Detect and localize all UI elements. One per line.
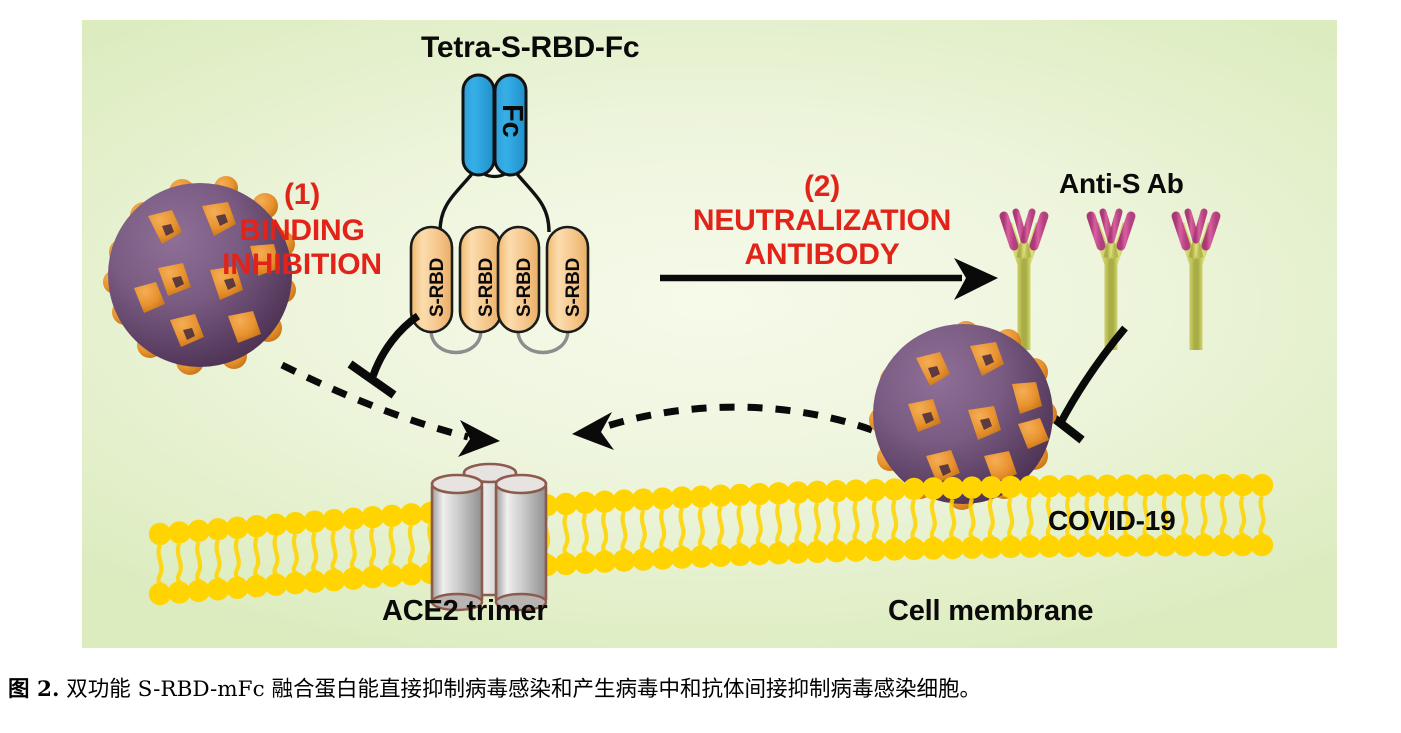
step-1-number: (1) — [207, 180, 397, 211]
rbd-linker-right — [518, 330, 568, 353]
lipid-head-inner — [690, 545, 712, 567]
lipid-head-outer — [303, 510, 325, 532]
lipid-head-inner — [767, 542, 789, 564]
lipid-head-inner — [303, 570, 325, 592]
figure-number: 图 2. — [8, 677, 59, 702]
lipid-tail — [661, 510, 664, 550]
lipid-tail — [990, 498, 993, 538]
s-rbd-label-1: S-RBD — [427, 258, 449, 317]
lipid-head-outer — [1096, 475, 1118, 497]
lipid-head-outer — [342, 507, 364, 529]
lipid-head-inner — [1096, 535, 1118, 557]
lipid-head-inner — [555, 553, 577, 575]
lipid-head-inner — [903, 538, 925, 560]
lipid-head-outer — [593, 491, 615, 513]
lipid-head-inner — [961, 536, 983, 558]
lipid-head-outer — [980, 476, 1002, 498]
lipid-head-outer — [1057, 475, 1079, 497]
lipid-head-outer — [1019, 475, 1041, 497]
cell-membrane-label: Cell membrane — [888, 595, 1093, 628]
lipid-head-inner — [671, 546, 693, 568]
lipid-head-outer — [381, 505, 403, 527]
lipid-head-outer — [709, 485, 731, 507]
lipid-head-outer — [883, 478, 905, 500]
ace2-trimer-label: ACE2 trimer — [382, 595, 547, 628]
lipid-tail — [874, 501, 877, 541]
lipid-tail — [893, 501, 896, 541]
lipid-head-inner — [1154, 534, 1176, 556]
lipid-tail — [1029, 498, 1032, 538]
lipid-tail — [932, 500, 935, 540]
lipid-head-inner — [980, 536, 1002, 558]
lipid-tail — [835, 502, 838, 542]
lipid-head-inner — [651, 547, 673, 569]
lipid-head-outer — [1038, 475, 1060, 497]
lipid-head-inner — [941, 537, 963, 559]
lipid-head-inner — [1115, 534, 1137, 556]
infection-path-right — [572, 407, 872, 450]
antibody-3 — [1176, 212, 1216, 350]
lipid-head-inner — [245, 575, 267, 597]
rbd-linker-left — [431, 330, 481, 353]
lipid-head-outer — [941, 477, 963, 499]
lipid-head-inner — [323, 569, 345, 591]
lipid-head-inner — [400, 563, 422, 585]
s-rbd-label-3: S-RBD — [514, 258, 536, 317]
lipid-tail — [352, 530, 355, 570]
lipid-head-inner — [1212, 534, 1234, 556]
lipid-head-outer — [284, 512, 306, 534]
lipid-head-outer — [149, 523, 171, 545]
figure-title: Tetra-S-RBD-Fc — [421, 31, 639, 65]
lipid-head-inner — [845, 539, 867, 561]
lipid-tail — [371, 528, 374, 568]
lipid-head-inner — [632, 548, 654, 570]
lipid-head-outer — [845, 479, 867, 501]
lipid-head-outer — [767, 482, 789, 504]
lipid-head-outer — [1251, 474, 1273, 496]
covid-19-label: COVID-19 — [1048, 505, 1176, 537]
lipid-head-outer — [361, 506, 383, 528]
lipid-head-inner — [748, 543, 770, 565]
lipid-tail — [410, 526, 413, 566]
ace2-cylinder-left — [432, 475, 482, 610]
lipid-head-inner — [265, 573, 287, 595]
lipid-head-outer — [671, 486, 693, 508]
ace2-cylinder-right — [496, 475, 546, 610]
lipid-head-inner — [149, 583, 171, 605]
lipid-head-inner — [787, 541, 809, 563]
fc-hinge-right — [512, 168, 549, 232]
lipid-tail — [603, 513, 606, 553]
lipid-head-inner — [1193, 534, 1215, 556]
figure-caption: 图 2. 双功能 S-RBD-mFc 融合蛋白能直接抑制病毒感染和产生病毒中和抗… — [8, 672, 1398, 703]
step-1-line-2: INHIBITION — [192, 250, 412, 281]
lipid-tail — [1009, 498, 1012, 538]
lipid-tail — [1183, 496, 1186, 536]
diagram-panel: Tetra-S-RBD-Fc Fc S-RBD S-RBD S-RBD S-RB… — [82, 20, 1337, 648]
step-2-line-1: NEUTRALIZATION — [652, 206, 992, 237]
lipid-tail — [739, 506, 742, 546]
lipid-head-inner — [729, 544, 751, 566]
lipid-head-inner — [613, 549, 635, 571]
lipid-head-outer — [245, 515, 267, 537]
lipid-head-outer — [922, 477, 944, 499]
lipid-tail — [758, 505, 761, 545]
lipid-head-inner — [806, 541, 828, 563]
lipid-tail — [642, 511, 645, 551]
lipid-tail — [855, 502, 858, 542]
lipid-head-outer — [187, 520, 209, 542]
lipid-head-outer — [1135, 474, 1157, 496]
lipid-tail — [391, 527, 394, 567]
lipid-tail — [333, 531, 336, 571]
lipid-head-outer — [1173, 474, 1195, 496]
lipid-head-inner — [187, 580, 209, 602]
step-2-line-2: ANTIBODY — [682, 240, 962, 271]
binding-inhibition-arrow — [350, 316, 418, 395]
lipid-tail — [700, 508, 703, 548]
diagram-canvas — [82, 20, 1337, 648]
lipid-tail — [1241, 496, 1244, 536]
lipid-tail — [719, 507, 722, 547]
lipid-tail — [681, 509, 684, 549]
lipid-tail — [313, 533, 316, 573]
lipid-head-inner — [342, 567, 364, 589]
lipid-tail — [1222, 496, 1225, 536]
step-2-number: (2) — [702, 172, 942, 203]
lipid-head-outer — [613, 489, 635, 511]
lipid-head-inner — [999, 536, 1021, 558]
lipid-head-outer — [265, 513, 287, 535]
lipid-head-inner — [226, 577, 248, 599]
lipid-tail — [255, 537, 258, 577]
lipid-tail — [777, 505, 780, 545]
lipid-head-outer — [748, 483, 770, 505]
infection-path-left — [282, 365, 500, 457]
lipid-head-inner — [825, 540, 847, 562]
s-rbd-label-2: S-RBD — [476, 258, 498, 317]
anti-s-ab-label: Anti-S Ab — [1059, 168, 1184, 200]
lipid-tail — [197, 542, 200, 582]
lipid-head-inner — [284, 572, 306, 594]
lipid-tail — [236, 539, 239, 579]
lipid-head-inner — [1251, 534, 1273, 556]
cell-membrane-bilayer — [149, 474, 1273, 605]
lipid-head-outer — [207, 518, 229, 540]
lipid-tail — [816, 503, 819, 543]
lipid-head-outer — [574, 492, 596, 514]
lipid-head-outer — [787, 481, 809, 503]
lipid-head-outer — [168, 521, 190, 543]
lipid-head-outer — [1212, 474, 1234, 496]
lipid-head-inner — [361, 566, 383, 588]
lipid-head-inner — [168, 581, 190, 603]
lipid-head-outer — [555, 493, 577, 515]
lipid-head-outer — [903, 478, 925, 500]
caption-body: 双功能 S-RBD-mFc 融合蛋白能直接抑制病毒感染和产生病毒中和抗体间接抑制… — [66, 677, 981, 702]
lipid-head-outer — [400, 503, 422, 525]
lipid-tail — [1203, 496, 1206, 536]
lipid-tail — [217, 541, 220, 581]
lipid-head-inner — [207, 578, 229, 600]
lipid-head-inner — [709, 545, 731, 567]
lipid-head-outer — [1231, 474, 1253, 496]
lipid-tail — [159, 545, 162, 585]
fc-hinge-left — [440, 168, 477, 232]
lipid-tail — [797, 504, 800, 544]
lipid-head-outer — [999, 476, 1021, 498]
lipid-tail — [275, 536, 278, 576]
lipid-head-outer — [1115, 474, 1137, 496]
step-1-line-1: BINDING — [207, 216, 397, 247]
lipid-head-inner — [1038, 535, 1060, 557]
lipid-tail — [294, 534, 297, 574]
lipid-head-inner — [883, 538, 905, 560]
lipid-tail — [623, 512, 626, 552]
fc-label: Fc — [495, 104, 528, 137]
lipid-head-outer — [729, 484, 751, 506]
lipid-head-outer — [1154, 474, 1176, 496]
lipid-tail — [971, 499, 974, 539]
lipid-head-outer — [226, 517, 248, 539]
lipid-head-outer — [651, 487, 673, 509]
lipid-tail — [565, 515, 568, 555]
lipid-head-inner — [381, 565, 403, 587]
lipid-head-inner — [1057, 535, 1079, 557]
lipid-tail — [1261, 496, 1264, 536]
lipid-head-inner — [1173, 534, 1195, 556]
lipid-head-outer — [825, 480, 847, 502]
lipid-head-outer — [323, 509, 345, 531]
lipid-head-outer — [961, 476, 983, 498]
lipid-head-outer — [690, 485, 712, 507]
lipid-head-outer — [1077, 475, 1099, 497]
lipid-tail — [178, 544, 181, 584]
lipid-head-inner — [593, 551, 615, 573]
lipid-head-inner — [1135, 534, 1157, 556]
figure-root: Tetra-S-RBD-Fc Fc S-RBD S-RBD S-RBD S-RB… — [0, 0, 1401, 733]
lipid-head-outer — [864, 479, 886, 501]
lipid-tail — [913, 500, 916, 540]
lipid-head-outer — [806, 481, 828, 503]
anti-s-antibody-group — [1004, 212, 1216, 350]
lipid-head-inner — [1077, 535, 1099, 557]
lipid-head-inner — [1019, 535, 1041, 557]
s-rbd-label-4: S-RBD — [563, 258, 585, 317]
lipid-head-outer — [1193, 474, 1215, 496]
lipid-head-inner — [1231, 534, 1253, 556]
lipid-head-inner — [574, 552, 596, 574]
lipid-head-outer — [632, 488, 654, 510]
lipid-head-inner — [922, 537, 944, 559]
lipid-tail — [584, 514, 587, 554]
lipid-head-inner — [864, 539, 886, 561]
ace2-trimer — [432, 464, 546, 610]
